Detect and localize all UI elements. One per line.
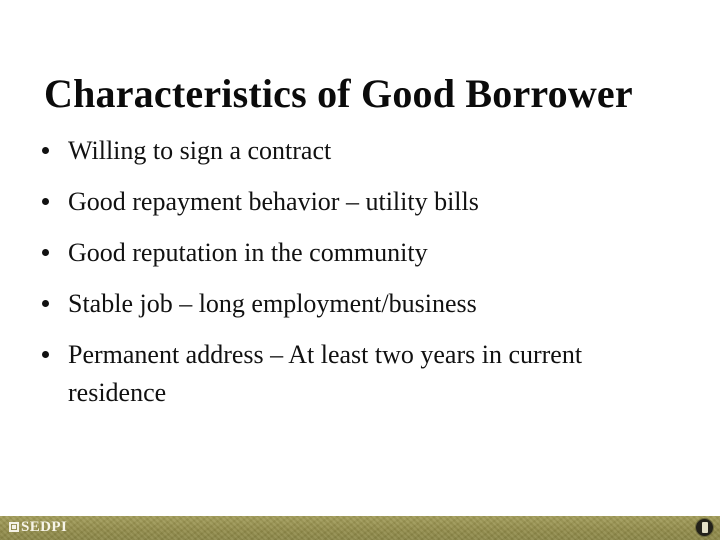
slide-canvas: Characteristics of Good Borrower Willing… bbox=[0, 0, 720, 540]
bullet-dot-icon bbox=[42, 351, 49, 358]
list-item: Good reputation in the community bbox=[34, 234, 654, 272]
list-item-label: Good reputation in the community bbox=[68, 234, 654, 272]
badge-inner-shape bbox=[702, 522, 708, 533]
list-item: Stable job – long employment/business bbox=[34, 285, 654, 323]
bullet-dot-icon bbox=[42, 198, 49, 205]
square-logo-icon bbox=[9, 522, 19, 532]
list-item-label: Good repayment behavior – utility bills bbox=[68, 183, 654, 221]
list-item-label: Stable job – long employment/business bbox=[68, 285, 654, 323]
page-title: Characteristics of Good Borrower bbox=[44, 71, 684, 117]
footer-brand-label: SEDPI bbox=[21, 519, 67, 535]
list-item-label: Permanent address – At least two years i… bbox=[68, 336, 654, 412]
footer-brand: SEDPI bbox=[9, 519, 67, 535]
list-item: Permanent address – At least two years i… bbox=[34, 336, 654, 412]
list-item: Willing to sign a contract bbox=[34, 132, 654, 170]
bullet-dot-icon bbox=[42, 147, 49, 154]
list-item: Good repayment behavior – utility bills bbox=[34, 183, 654, 221]
bullet-list: Willing to sign a contract Good repaymen… bbox=[34, 132, 654, 412]
bullet-dot-icon bbox=[42, 249, 49, 256]
bullet-dot-icon bbox=[42, 300, 49, 307]
circle-badge-icon bbox=[695, 518, 714, 537]
footer-bar: SEDPI bbox=[0, 516, 720, 540]
list-item-label: Willing to sign a contract bbox=[68, 132, 654, 170]
